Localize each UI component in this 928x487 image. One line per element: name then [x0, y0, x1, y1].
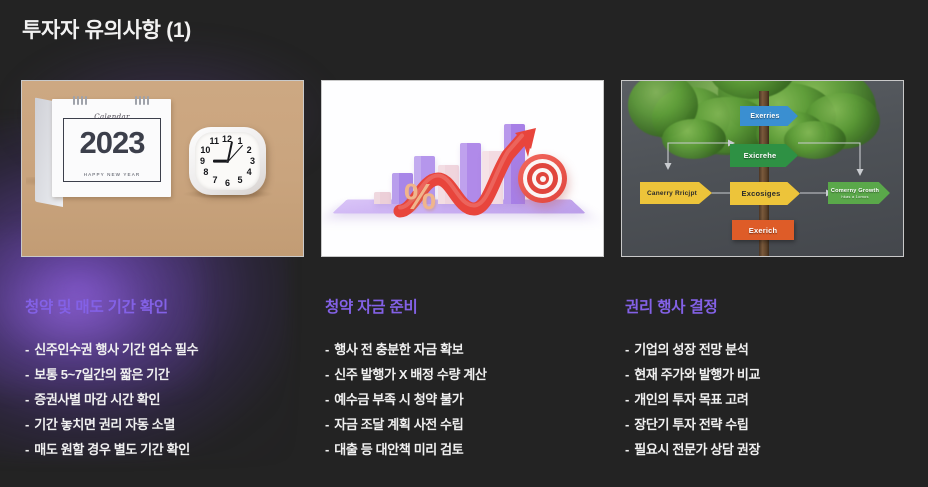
list-item: - 신주 발행가 X 배정 수량 계산	[325, 362, 487, 387]
growth-chart-target-3d: %	[321, 80, 604, 257]
list-item: - 대출 등 대안책 미리 검토	[325, 437, 487, 462]
clock-face: 121234567891011	[195, 132, 260, 190]
list-item: - 매도 원할 경우 별도 기간 확인	[25, 437, 198, 462]
bullet-dash: -	[325, 442, 329, 457]
list-item-label: 보통 5~7일간의 짧은 기간	[31, 367, 170, 382]
bullet-dash: -	[625, 392, 629, 407]
tree-flowchart-diagram: ExerriesExicreheCanerry RricjptExcosiges…	[621, 80, 904, 257]
list-item: - 보통 5~7일간의 짧은 기간	[25, 362, 198, 387]
clock-numeral: 4	[247, 168, 252, 177]
photo-scene-tree: ExerriesExicreheCanerry RricjptExcosiges…	[622, 81, 903, 256]
alarm-clock: 121234567891011	[189, 127, 266, 195]
desk-calendar: Calendar 2023 HAPPY NEW YEAR	[35, 99, 171, 211]
bullet-dash: -	[325, 367, 329, 382]
red-growth-arrow	[322, 81, 604, 257]
list-item-label: 증권사별 마감 시간 확인	[31, 392, 160, 407]
clock-numeral: 6	[225, 179, 230, 188]
bullet-dash: -	[25, 417, 29, 432]
bullet-dash: -	[625, 442, 629, 457]
bullet-dash: -	[25, 392, 29, 407]
list-item-label: 신주인수권 행사 기간 엄수 필수	[31, 342, 198, 357]
bullet-dash: -	[325, 392, 329, 407]
list-item: - 개인의 투자 목표 고려	[625, 387, 760, 412]
photo-scene-chart: %	[322, 81, 603, 256]
flow-node-label: Canerry Rricjpt	[647, 190, 705, 197]
clock-numeral: 9	[200, 157, 205, 166]
clock-center-pivot	[226, 160, 229, 163]
list-item-label: 대출 등 대안책 미리 검토	[331, 442, 463, 457]
column-3-heading: 권리 행사 결정	[625, 295, 718, 317]
bullet-dash: -	[25, 442, 29, 457]
list-item-label: 자금 조달 계획 사전 수립	[331, 417, 463, 432]
calendar-year: 2023	[64, 126, 160, 160]
list-item-label: 기간 놓치면 권리 자동 소멸	[31, 417, 175, 432]
flow-node: Comerny Growthhkas a 1omos	[828, 182, 890, 204]
list-item: - 기업의 성장 전망 분석	[625, 337, 760, 362]
bullet-dash: -	[625, 367, 629, 382]
calendar-spiral-right	[135, 96, 149, 105]
clock-numeral: 3	[250, 157, 255, 166]
list-item-label: 개인의 투자 목표 고려	[631, 392, 749, 407]
list-item-label: 예수금 부족 시 청약 불가	[331, 392, 463, 407]
calendar-front-panel: Calendar 2023 HAPPY NEW YEAR	[52, 99, 171, 197]
clock-numeral: 7	[213, 176, 218, 185]
column-2-list: - 행사 전 충분한 자금 확보- 신주 발행가 X 배정 수량 계산- 예수금…	[325, 337, 487, 462]
calendar-frame: Calendar 2023 HAPPY NEW YEAR	[63, 118, 161, 182]
bullet-dash: -	[325, 417, 329, 432]
column-1-list: - 신주인수권 행사 기간 엄수 필수- 보통 5~7일간의 짧은 기간- 증권…	[25, 337, 198, 462]
flow-node: Excosiges	[730, 182, 800, 205]
flow-node: Exerries	[740, 106, 798, 126]
list-item: - 현재 주가와 발행가 비교	[625, 362, 760, 387]
photo-scene-calendar: Calendar 2023 HAPPY NEW YEAR 12123456789…	[22, 81, 303, 256]
page-title: 투자자 유의사항 (1)	[22, 14, 191, 44]
flow-node-sublabel: hkas a 1omos	[841, 194, 876, 199]
list-item: - 자금 조달 계획 사전 수립	[325, 412, 487, 437]
list-item-label: 기업의 성장 전망 분석	[631, 342, 749, 357]
list-item-label: 장단기 투자 전략 수립	[631, 417, 749, 432]
list-item-label: 매도 원할 경우 별도 기간 확인	[31, 442, 190, 457]
flow-node: Canerry Rricjpt	[640, 182, 712, 204]
flow-node-label: Exicrehe	[744, 151, 785, 160]
flow-node-label: Exerries	[750, 113, 787, 120]
calendar-script-label: Calendar	[64, 113, 160, 121]
flow-node: Exerich	[732, 220, 794, 240]
bullet-dash: -	[625, 342, 629, 357]
clock-numeral: 11	[210, 137, 220, 146]
flow-node-label: Exerich	[749, 226, 778, 235]
list-item-label: 신주 발행가 X 배정 수량 계산	[331, 367, 487, 382]
list-item: - 신주인수권 행사 기간 엄수 필수	[25, 337, 198, 362]
clock-numeral: 8	[203, 168, 208, 177]
column-1-heading: 청약 및 매도 기간 확인	[25, 295, 168, 317]
flow-node: Exicrehe	[730, 144, 798, 167]
bullet-dash: -	[25, 342, 29, 357]
list-item: - 행사 전 충분한 자금 확보	[325, 337, 487, 362]
list-item: - 증권사별 마감 시간 확인	[25, 387, 198, 412]
list-item: - 장단기 투자 전략 수립	[625, 412, 760, 437]
list-item-label: 행사 전 충분한 자금 확보	[331, 342, 463, 357]
list-item: - 필요시 전문가 상담 권장	[625, 437, 760, 462]
slide-root: 투자자 유의사항 (1) Calendar 2023 HAPPY NEW YEA…	[0, 0, 928, 487]
percent-symbol: %	[404, 179, 436, 215]
bullet-dash: -	[625, 417, 629, 432]
list-item: - 기간 놓치면 권리 자동 소멸	[25, 412, 198, 437]
list-item: - 예수금 부족 시 청약 불가	[325, 387, 487, 412]
calendar-and-clock-photo: Calendar 2023 HAPPY NEW YEAR 12123456789…	[21, 80, 304, 257]
clock-numeral: 2	[247, 146, 252, 155]
column-3-list: - 기업의 성장 전망 분석- 현재 주가와 발행가 비교- 개인의 투자 목표…	[625, 337, 760, 462]
bullet-dash: -	[25, 367, 29, 382]
list-item-label: 현재 주가와 발행가 비교	[631, 367, 760, 382]
flow-node-label: Excosiges	[742, 189, 789, 198]
clock-numeral: 10	[200, 146, 210, 155]
calendar-spiral-left	[73, 96, 87, 105]
bullet-dash: -	[325, 342, 329, 357]
list-item-label: 필요시 전문가 상담 권장	[631, 442, 760, 457]
calendar-subtitle: HAPPY NEW YEAR	[64, 172, 160, 177]
clock-numeral: 5	[238, 176, 243, 185]
column-2-heading: 청약 자금 준비	[325, 295, 418, 317]
